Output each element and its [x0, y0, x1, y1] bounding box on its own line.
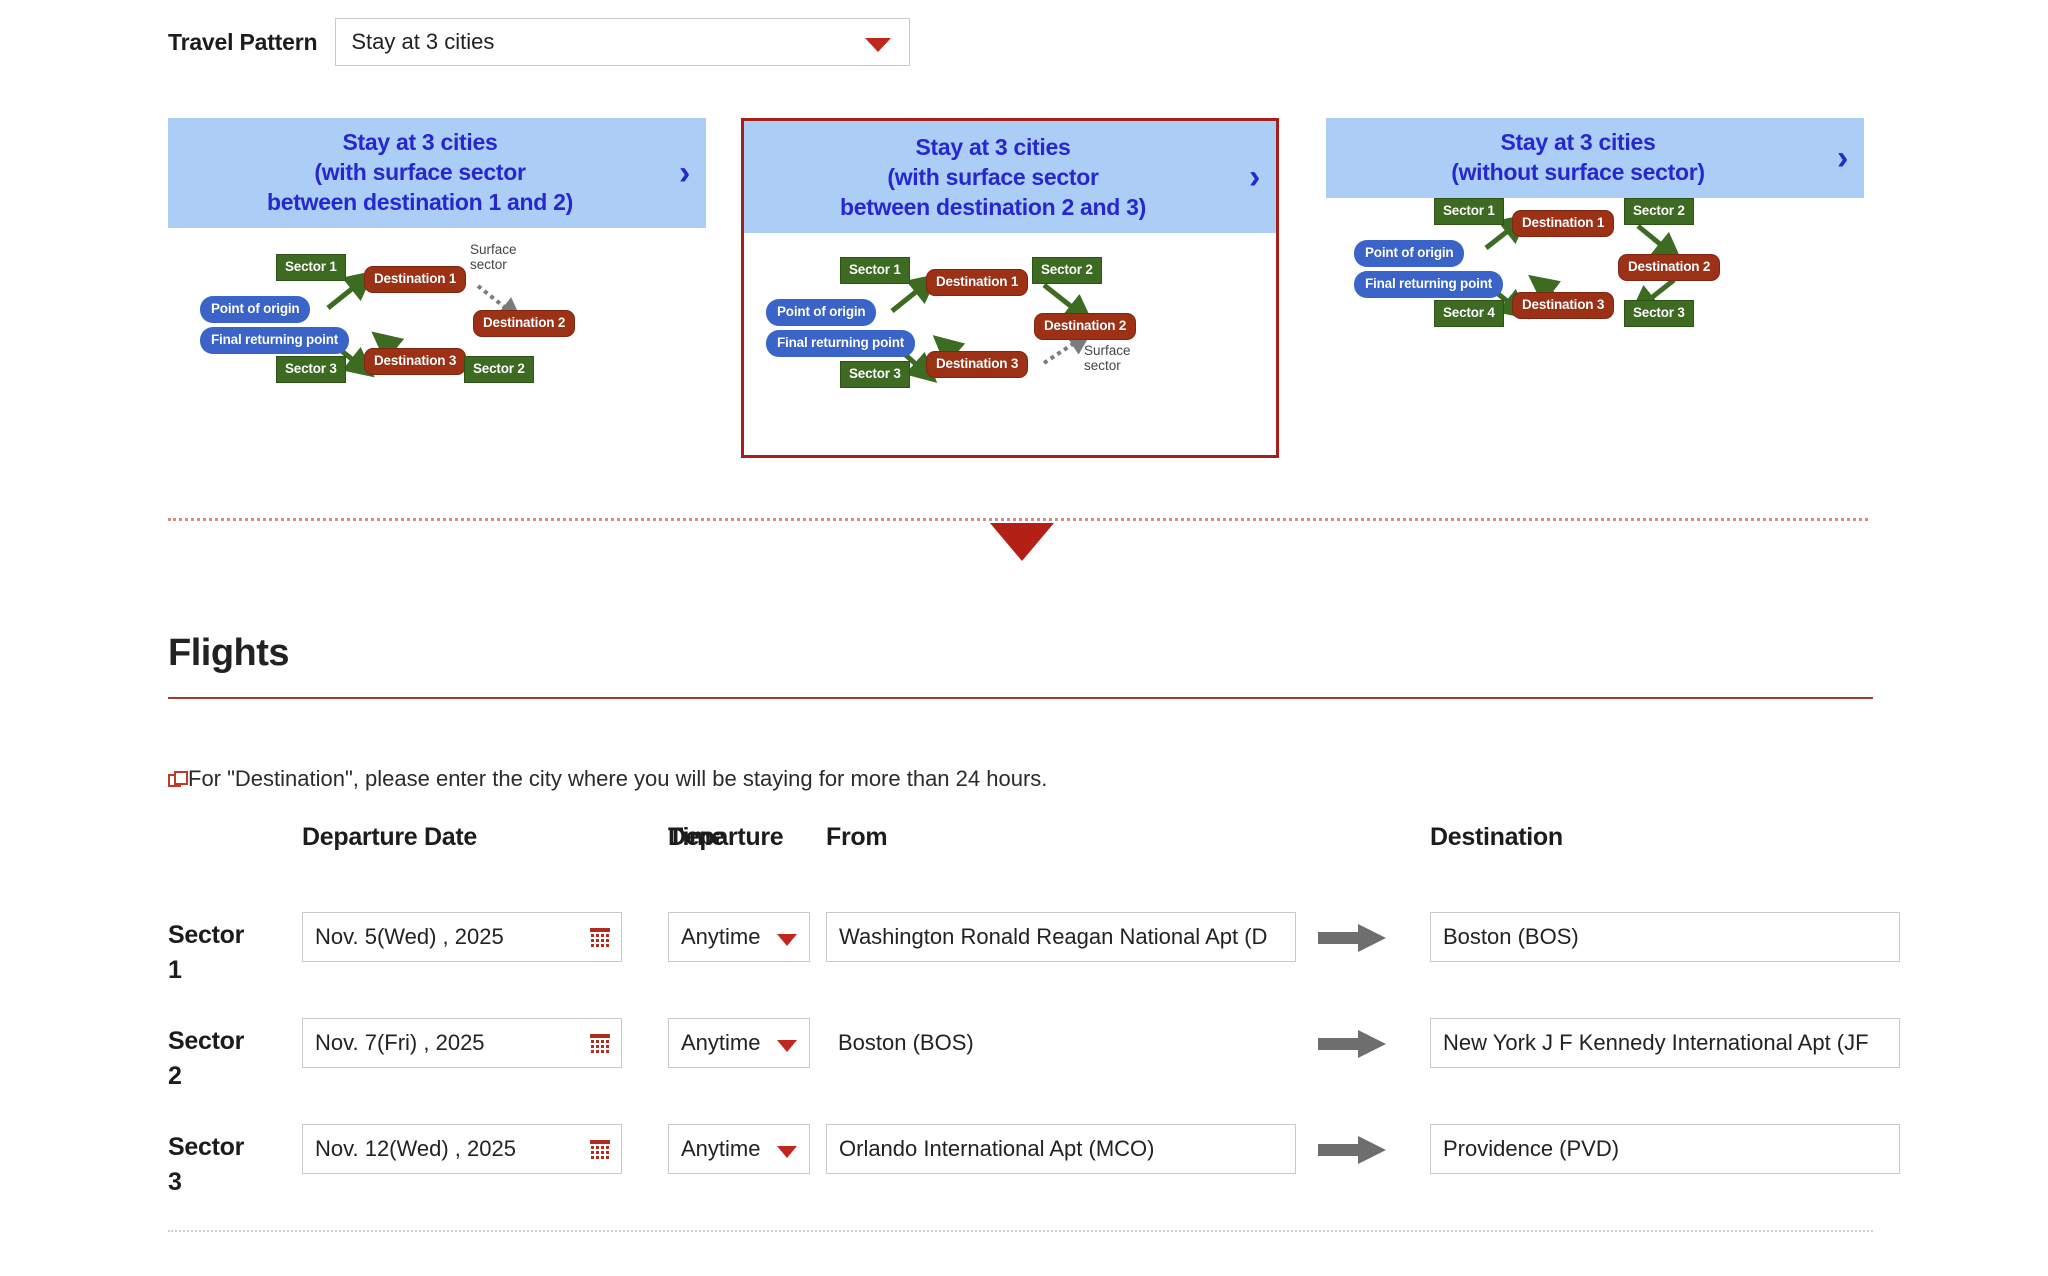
node-sector-2: Sector 2 [1624, 198, 1694, 225]
node-destination-2: Destination 2 [1618, 254, 1720, 281]
node-sector-1: Sector 1 [1434, 198, 1504, 225]
page-title: Flights [168, 632, 289, 675]
node-sector-3: Sector 3 [276, 356, 346, 383]
from-readonly: Boston (BOS) [826, 1018, 1296, 1068]
node-sector-1: Sector 1 [276, 254, 346, 281]
column-from: From [826, 818, 887, 856]
card-title-line-2: (with surface sector [754, 162, 1232, 192]
node-destination-1: Destination 1 [1512, 210, 1614, 237]
departure-time-select[interactable]: Anytime [668, 1018, 810, 1068]
from-input[interactable]: Orlando International Apt (MCO) [826, 1124, 1296, 1174]
departure-time-select[interactable]: Anytime [668, 1124, 810, 1174]
table-header: Departure Date Departure Time From Desti… [168, 818, 1958, 896]
caret-down-icon [865, 38, 891, 52]
node-sector-2: Sector 2 [1032, 257, 1102, 284]
table-row: Sector 1 Nov. 5(Wed) , 2025 [168, 896, 1958, 1002]
node-destination-1: Destination 1 [926, 269, 1028, 296]
caret-down-icon [777, 934, 797, 946]
departure-date-value: Nov. 12(Wed) , 2025 [315, 1136, 516, 1162]
node-sector-3: Sector 3 [840, 361, 910, 388]
node-destination-2: Destination 2 [1034, 313, 1136, 340]
chevron-right-icon[interactable]: › [1837, 141, 1848, 175]
node-sector-3: Sector 3 [1624, 300, 1694, 327]
travel-pattern-row: Travel Pattern Stay at 3 cities [168, 18, 910, 66]
node-final-returning-point: Final returning point [200, 327, 349, 354]
pattern-cards: Stay at 3 cities (with surface sector be… [168, 118, 1868, 458]
destination-value: Boston (BOS) [1443, 924, 1579, 950]
pattern-card-surface-1-2[interactable]: Stay at 3 cities (with surface sector be… [168, 118, 706, 458]
card-title-line-3: between destination 2 and 3) [754, 192, 1232, 222]
pattern-card-header: Stay at 3 cities (without surface sector… [1326, 118, 1864, 198]
chevron-right-icon[interactable]: › [1249, 160, 1260, 194]
calendar-icon[interactable] [589, 926, 611, 948]
label-surface-sector: Surface sector [470, 242, 517, 272]
row-label-sector: Sector 3 [168, 1130, 288, 1200]
destination-value: New York J F Kennedy International Apt (… [1443, 1030, 1869, 1056]
destination-note: For "Destination", please enter the city… [168, 766, 1047, 792]
node-destination-2: Destination 2 [473, 310, 575, 337]
table-row: Sector 2 Nov. 7(Fri) , 2025 [168, 1002, 1958, 1108]
section-divider [168, 518, 1868, 521]
from-value: Boston (BOS) [838, 1030, 974, 1056]
departure-time-select[interactable]: Anytime [668, 912, 810, 962]
departure-date-input[interactable]: Nov. 7(Fri) , 2025 [302, 1018, 622, 1068]
node-point-of-origin: Point of origin [200, 296, 310, 323]
node-final-returning-point: Final returning point [1354, 271, 1503, 298]
calendar-icon[interactable] [589, 1138, 611, 1160]
card-title-line-3: between destination 1 and 2) [178, 187, 662, 217]
calendar-icon[interactable] [589, 1032, 611, 1054]
bottom-divider [168, 1230, 1873, 1232]
node-destination-3: Destination 3 [1512, 292, 1614, 319]
title-underline [168, 697, 1873, 699]
card-title-line-1: Stay at 3 cities [1336, 127, 1820, 157]
page-root: Travel Pattern Stay at 3 cities Stay at … [0, 0, 2048, 1276]
departure-date-value: Nov. 7(Fri) , 2025 [315, 1030, 485, 1056]
departure-date-value: Nov. 5(Wed) , 2025 [315, 924, 504, 950]
destination-note-text: For "Destination", please enter the city… [188, 766, 1047, 792]
pattern-card-header: Stay at 3 cities (with surface sector be… [168, 118, 706, 228]
card-title-line-2: (with surface sector [178, 157, 662, 187]
row-label-sector: Sector 1 [168, 918, 288, 988]
destination-input[interactable]: New York J F Kennedy International Apt (… [1430, 1018, 1900, 1068]
departure-time-value: Anytime [681, 1030, 760, 1056]
card-title-line-1: Stay at 3 cities [754, 132, 1232, 162]
window-icon [168, 770, 186, 788]
destination-value: Providence (PVD) [1443, 1136, 1619, 1162]
card-title-line-1: Stay at 3 cities [178, 127, 662, 157]
node-sector-1: Sector 1 [840, 257, 910, 284]
departure-time-value: Anytime [681, 1136, 760, 1162]
from-value: Washington Ronald Reagan National Apt (D [839, 924, 1267, 950]
pattern-card-diagram: Sector 1 Destination 1 Surface sector De… [168, 228, 706, 458]
travel-pattern-select[interactable]: Stay at 3 cities [335, 18, 910, 66]
column-destination: Destination [1430, 818, 1563, 856]
flights-table: Departure Date Departure Time From Desti… [168, 818, 1958, 1214]
pattern-card-header: Stay at 3 cities (with surface sector be… [744, 121, 1276, 233]
node-point-of-origin: Point of origin [766, 299, 876, 326]
node-destination-3: Destination 3 [926, 351, 1028, 378]
card-title-line-2: (without surface sector) [1336, 157, 1820, 187]
travel-pattern-label: Travel Pattern [168, 29, 317, 56]
node-sector-2: Sector 2 [464, 356, 534, 383]
arrow-down-indicator [990, 523, 1054, 561]
node-point-of-origin: Point of origin [1354, 240, 1464, 267]
label-surface-sector: Surface sector [1084, 343, 1131, 373]
from-value: Orlando International Apt (MCO) [839, 1136, 1154, 1162]
arrow-right-icon [1318, 924, 1388, 952]
from-input[interactable]: Washington Ronald Reagan National Apt (D [826, 912, 1296, 962]
column-departure-date: Departure Date [302, 818, 477, 856]
pattern-card-diagram: Sector 1 Destination 1 Sector 2 Point of… [1326, 198, 1864, 428]
arrow-right-icon [1318, 1030, 1388, 1058]
row-label-sector: Sector 2 [168, 1024, 288, 1094]
node-destination-3: Destination 3 [364, 348, 466, 375]
node-final-returning-point: Final returning point [766, 330, 915, 357]
pattern-card-without-surface[interactable]: Stay at 3 cities (without surface sector… [1326, 118, 1864, 458]
caret-down-icon [777, 1040, 797, 1052]
pattern-card-diagram: Sector 1 Destination 1 Sector 2 Point of… [744, 233, 1276, 463]
pattern-card-surface-2-3[interactable]: Stay at 3 cities (with surface sector be… [741, 118, 1279, 458]
node-destination-1: Destination 1 [364, 266, 466, 293]
departure-time-value: Anytime [681, 924, 760, 950]
table-row: Sector 3 Nov. 12(Wed) , 2025 [168, 1108, 1958, 1214]
chevron-right-icon[interactable]: › [679, 156, 690, 190]
destination-input[interactable]: Providence (PVD) [1430, 1124, 1900, 1174]
node-sector-4: Sector 4 [1434, 300, 1504, 327]
caret-down-icon [777, 1146, 797, 1158]
departure-date-input[interactable]: Nov. 12(Wed) , 2025 [302, 1124, 622, 1174]
destination-input[interactable]: Boston (BOS) [1430, 912, 1900, 962]
travel-pattern-value: Stay at 3 cities [351, 29, 494, 55]
arrow-right-icon [1318, 1136, 1388, 1164]
departure-date-input[interactable]: Nov. 5(Wed) , 2025 [302, 912, 622, 962]
